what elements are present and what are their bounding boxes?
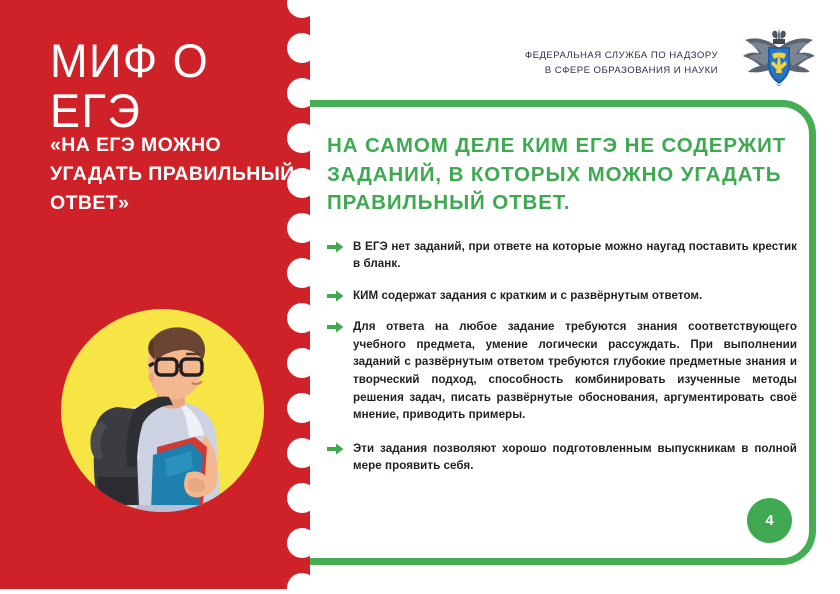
bullet-list: В ЕГЭ нет заданий, при ответе на которые… <box>327 238 797 476</box>
list-item: Для ответа на любое задание требуются зн… <box>327 318 797 424</box>
list-item-text: В ЕГЭ нет заданий, при ответе на которые… <box>353 240 797 271</box>
agency-line-2: В СФЕРЕ ОБРАЗОВАНИЯ И НАУКИ <box>525 63 718 78</box>
myth-quote-text: «НА ЕГЭ МОЖНО УГАДАТЬ ПРАВИЛЬНЫЙ ОТВЕТ» <box>50 131 295 218</box>
list-item-text: КИМ содержат задания с кратким и с развё… <box>353 289 702 302</box>
double-headed-eagle-emblem <box>742 28 816 88</box>
green-right-arrow-icon <box>327 241 344 253</box>
student-with-backpack-and-books-illustration <box>61 309 264 512</box>
main-content: НА САМОМ ДЕЛЕ КИМ ЕГЭ НЕ СОДЕРЖИТ ЗАДАНИ… <box>327 132 797 475</box>
list-item: В ЕГЭ нет заданий, при ответе на которые… <box>327 238 797 273</box>
list-item: Эти задания позволяют хорошо подготовлен… <box>327 440 797 475</box>
green-right-arrow-icon <box>327 290 344 302</box>
agency-line-1: ФЕДЕРАЛЬНАЯ СЛУЖБА ПО НАДЗОРУ <box>525 48 718 63</box>
list-item: КИМ содержат задания с кратким и с развё… <box>327 287 797 305</box>
agency-name: ФЕДЕРАЛЬНАЯ СЛУЖБА ПО НАДЗОРУ В СФЕРЕ ОБ… <box>525 48 718 78</box>
infographic-page: МИФ О ЕГЭ «НА ЕГЭ МОЖНО УГАДАТЬ ПРАВИЛЬН… <box>0 0 840 594</box>
green-right-arrow-icon <box>327 321 344 333</box>
page-number-badge: 4 <box>747 498 792 543</box>
green-right-arrow-icon <box>327 443 344 455</box>
page-title: МИФ О ЕГЭ <box>50 36 290 136</box>
list-item-text: Для ответа на любое задание требуются зн… <box>353 320 797 421</box>
student-illustration-circle <box>61 309 264 512</box>
answer-heading: НА САМОМ ДЕЛЕ КИМ ЕГЭ НЕ СОДЕРЖИТ ЗАДАНИ… <box>327 132 797 218</box>
list-item-text: Эти задания позволяют хорошо подготовлен… <box>353 442 797 473</box>
